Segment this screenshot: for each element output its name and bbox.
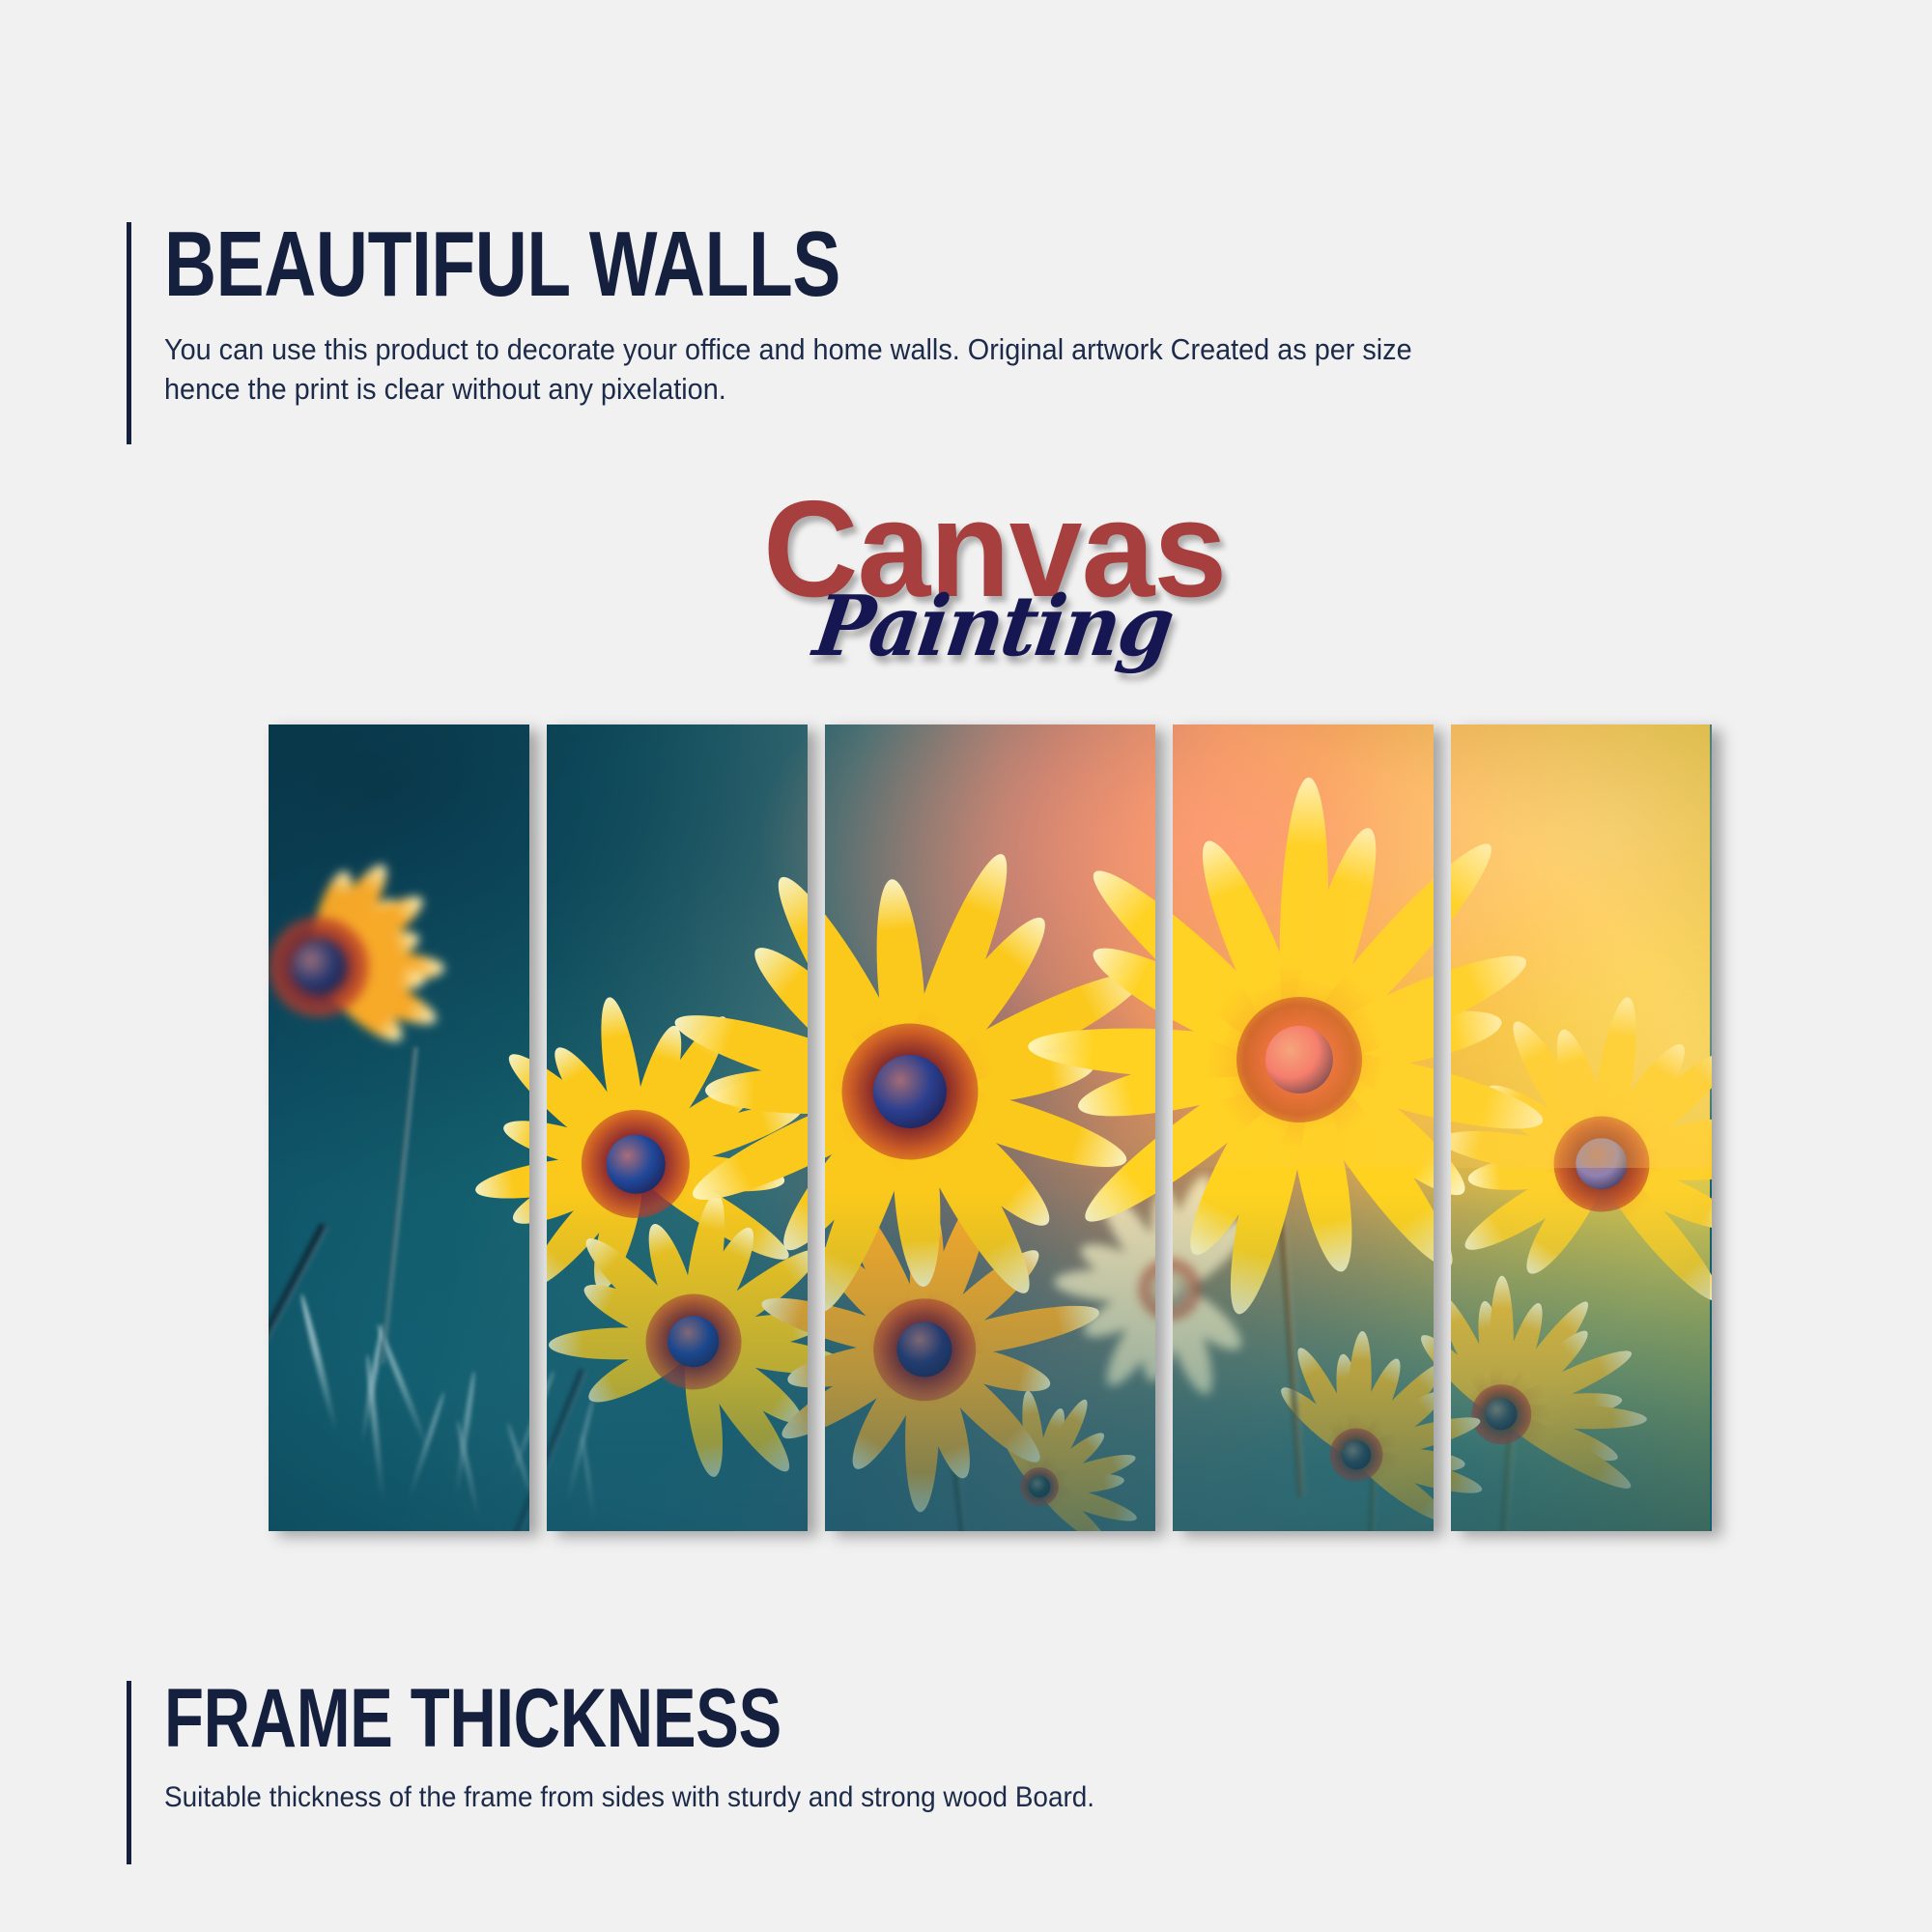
flower-petal bbox=[1451, 1037, 1548, 1145]
frame-thickness-description: Suitable thickness of the frame from sid… bbox=[164, 1778, 1288, 1817]
flower-artwork bbox=[547, 724, 808, 1531]
flower-artwork bbox=[1173, 724, 1434, 1531]
canvas-panel-4[interactable] bbox=[1173, 724, 1434, 1531]
logo-script-text: Painting bbox=[810, 585, 1178, 668]
flower-petal bbox=[1451, 1040, 1478, 1210]
flower bbox=[1173, 783, 1434, 1336]
artwork-slice-5 bbox=[1451, 724, 1710, 1531]
flower-petal bbox=[774, 1335, 808, 1450]
canvas-panel-1[interactable] bbox=[269, 724, 529, 1531]
canvas-panel-2[interactable] bbox=[547, 724, 808, 1531]
canvas-panel-group bbox=[269, 724, 1710, 1531]
flower-petal bbox=[499, 1043, 529, 1177]
frame-thickness-title: FRAME THICKNESS bbox=[164, 1681, 1106, 1757]
flower-petal bbox=[783, 1333, 808, 1397]
beautiful-walls-description: You can use this product to decorate you… bbox=[164, 330, 1440, 410]
frame-thickness-section: FRAME THICKNESS Suitable thickness of th… bbox=[127, 1681, 1372, 1864]
artwork-slice-1 bbox=[269, 724, 529, 1531]
canvas-panel-5[interactable] bbox=[1451, 724, 1712, 1531]
flower-artwork bbox=[825, 724, 1155, 1531]
flower-petal bbox=[1451, 1355, 1452, 1462]
canvas-painting-logo: Canvas Painting bbox=[763, 481, 1246, 684]
section-accent-bar bbox=[127, 222, 131, 444]
artwork-slice-2 bbox=[547, 724, 808, 1531]
page-title: BEAUTIFUL WALLS bbox=[164, 222, 1235, 307]
flower bbox=[1228, 1325, 1434, 1531]
section-accent-bar bbox=[127, 1681, 131, 1864]
artwork-slice-3 bbox=[825, 724, 1155, 1531]
flower-artwork bbox=[1451, 724, 1710, 1531]
canvas-panel-3[interactable] bbox=[825, 724, 1155, 1531]
flower-artwork bbox=[269, 724, 529, 1531]
flower-petal bbox=[1451, 939, 1535, 1082]
artwork-slice-4 bbox=[1173, 724, 1434, 1531]
flower-petal bbox=[472, 1148, 529, 1207]
beautiful-walls-section: BEAUTIFUL WALLS You can use this product… bbox=[127, 222, 1536, 444]
